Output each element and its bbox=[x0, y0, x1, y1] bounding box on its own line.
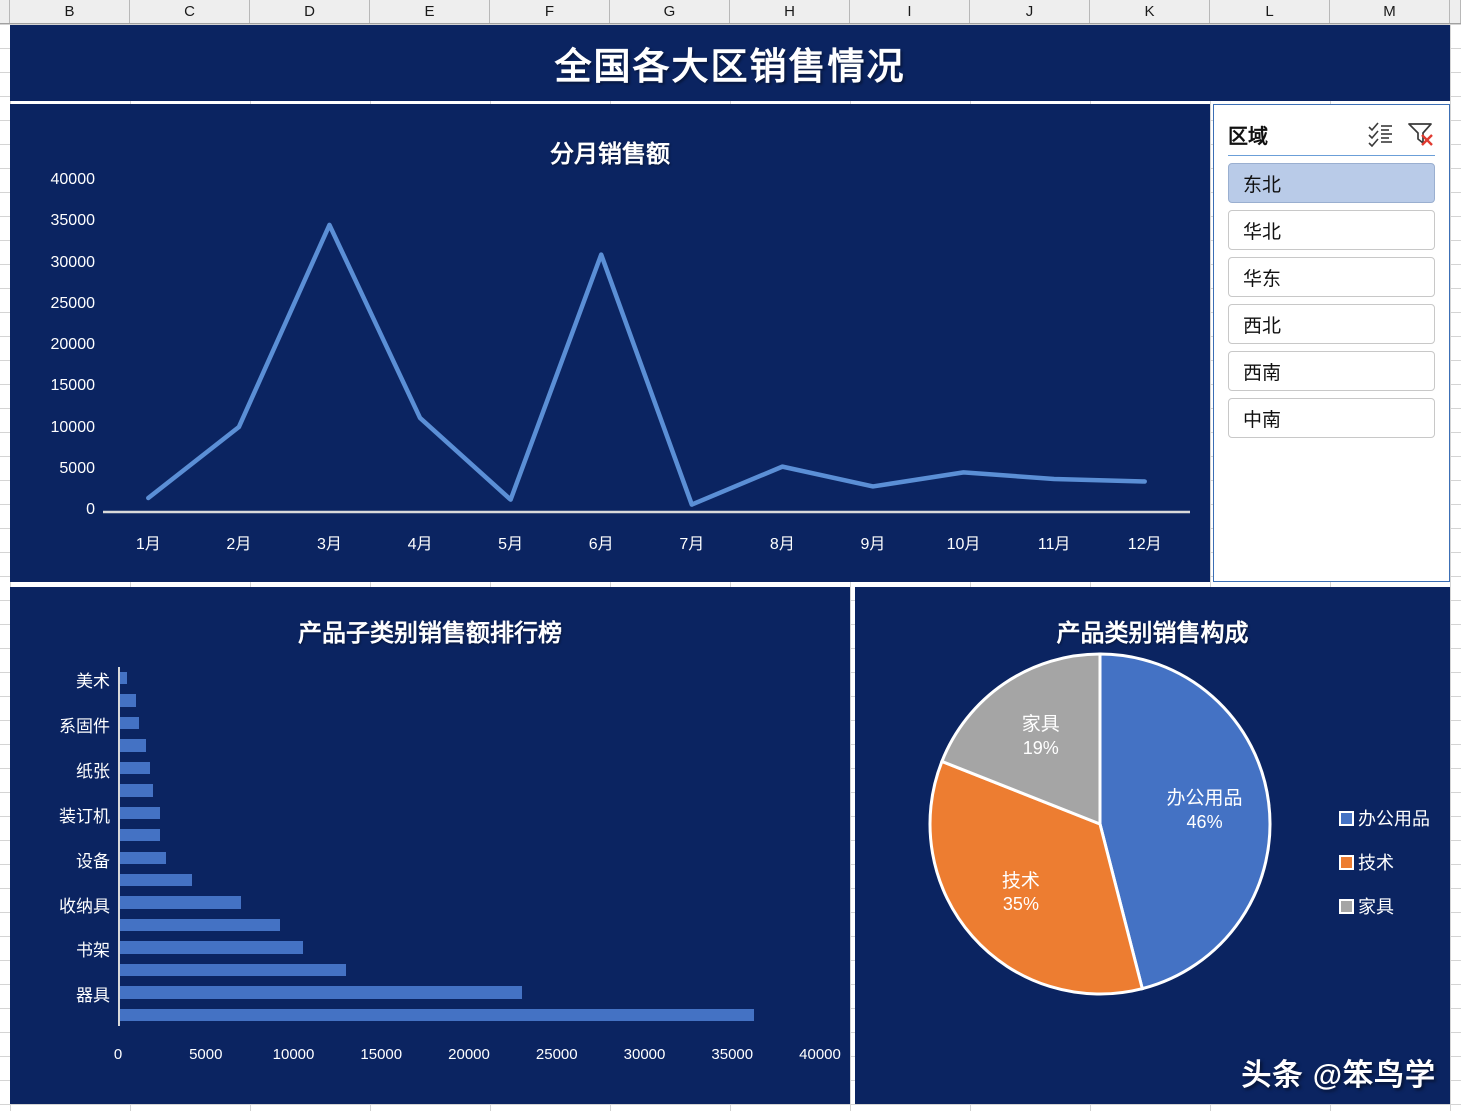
bar-chart-category-label: 系固件 bbox=[14, 712, 110, 737]
subcategory-ranking-bar-chart-panel[interactable]: 产品子类别销售额排行榜 美术系固件纸张装订机设备收纳具书架器具050001000… bbox=[10, 587, 850, 1104]
pie-legend-item[interactable]: 办公用品 bbox=[1339, 805, 1430, 831]
column-header-I[interactable]: I bbox=[850, 0, 970, 23]
pie-legend-label: 家具 bbox=[1358, 893, 1394, 919]
bar-chart-x-tick: 20000 bbox=[434, 1046, 504, 1063]
watermark: 头条 @笨鸟学 bbox=[1241, 1050, 1436, 1094]
pie-legend-swatch bbox=[1339, 855, 1354, 870]
line-chart-x-tick: 4月 bbox=[385, 530, 455, 554]
clear-filter-icon[interactable] bbox=[1405, 121, 1435, 147]
pie-slice-label: 办公用品46% bbox=[1145, 787, 1265, 833]
bar-rect bbox=[120, 672, 127, 684]
bar-chart-category-label: 书架 bbox=[14, 936, 110, 961]
line-chart-y-tick: 5000 bbox=[15, 460, 95, 478]
column-header-E[interactable]: E bbox=[370, 0, 490, 23]
column-header-J[interactable]: J bbox=[970, 0, 1090, 23]
line-chart-x-tick: 7月 bbox=[657, 530, 727, 554]
bar-rect bbox=[120, 829, 160, 841]
page-title: 全国各大区销售情况 bbox=[555, 36, 906, 90]
line-chart-x-tick: 8月 bbox=[747, 530, 817, 554]
line-chart-y-tick: 15000 bbox=[15, 377, 95, 395]
line-chart-x-tick: 2月 bbox=[204, 530, 274, 554]
bar-chart-x-tick: 0 bbox=[83, 1046, 153, 1063]
column-header-H[interactable]: H bbox=[730, 0, 850, 23]
dashboard-title-banner: 全国各大区销售情况 bbox=[10, 25, 1450, 101]
dashboard-root: BCDEFGHIJKLM 全国各大区销售情况 分月销售额 05000100001… bbox=[0, 0, 1461, 1111]
bar-chart-x-tick: 5000 bbox=[171, 1046, 241, 1063]
column-header-D[interactable]: D bbox=[250, 0, 370, 23]
line-chart-y-tick: 40000 bbox=[15, 171, 95, 189]
bar-rect bbox=[120, 694, 136, 706]
region-slicer[interactable]: 区域 东北华北华东西北西南中南 bbox=[1213, 104, 1450, 582]
bar-chart-category-label: 收纳具 bbox=[14, 892, 110, 917]
column-header-G[interactable]: G bbox=[610, 0, 730, 23]
bar-chart-x-tick: 40000 bbox=[785, 1046, 855, 1063]
line-chart-x-tick: 3月 bbox=[294, 530, 364, 554]
line-chart-plot: 0500010000150002000025000300003500040000… bbox=[10, 104, 1210, 582]
line-chart-y-tick: 20000 bbox=[15, 336, 95, 354]
bar-rect bbox=[120, 807, 160, 819]
slicer-item-list: 东北华北华东西北西南中南 bbox=[1228, 163, 1435, 445]
bar-chart-category-label: 设备 bbox=[14, 847, 110, 872]
bar-rect bbox=[120, 762, 150, 774]
pie-chart-plot: 办公用品46%技术35%家具19% bbox=[925, 649, 1275, 999]
column-header-B[interactable]: B bbox=[10, 0, 130, 23]
pie-legend-swatch bbox=[1339, 811, 1354, 826]
bar-chart-category-label: 器具 bbox=[14, 981, 110, 1006]
column-header-C[interactable]: C bbox=[130, 0, 250, 23]
bar-chart-plot: 美术系固件纸张装订机设备收纳具书架器具050001000015000200002… bbox=[10, 587, 850, 1104]
pie-legend-item[interactable]: 家具 bbox=[1339, 893, 1430, 919]
slicer-item-华北[interactable]: 华北 bbox=[1228, 210, 1435, 250]
pie-legend: 办公用品技术家具 bbox=[1339, 805, 1430, 919]
column-header-a-partial[interactable] bbox=[0, 0, 10, 23]
bar-chart-x-tick: 30000 bbox=[610, 1046, 680, 1063]
bar-rect bbox=[120, 896, 241, 908]
slicer-item-中南[interactable]: 中南 bbox=[1228, 398, 1435, 438]
column-header-M[interactable]: M bbox=[1330, 0, 1450, 23]
bar-chart-category-label: 装订机 bbox=[14, 802, 110, 827]
line-chart-y-tick: 35000 bbox=[15, 212, 95, 230]
line-chart-x-tick: 10月 bbox=[929, 530, 999, 554]
bar-chart-x-tick: 35000 bbox=[697, 1046, 767, 1063]
pie-slice-label: 家具19% bbox=[981, 713, 1101, 759]
line-chart-y-tick: 0 bbox=[15, 501, 95, 519]
line-chart-x-tick: 6月 bbox=[566, 530, 636, 554]
bar-rect bbox=[120, 717, 139, 729]
column-header-L[interactable]: L bbox=[1210, 0, 1330, 23]
multi-select-icon[interactable] bbox=[1367, 121, 1397, 147]
line-chart-svg bbox=[10, 104, 1210, 582]
pie-legend-label: 办公用品 bbox=[1358, 805, 1430, 831]
column-header-row[interactable]: BCDEFGHIJKLM bbox=[0, 0, 1461, 24]
bar-rect bbox=[120, 874, 192, 886]
column-header-F[interactable]: F bbox=[490, 0, 610, 23]
bar-rect bbox=[120, 941, 303, 953]
bar-rect bbox=[120, 739, 146, 751]
monthly-sales-line-chart-panel[interactable]: 分月销售额 0500010000150002000025000300003500… bbox=[10, 104, 1210, 582]
slicer-item-西北[interactable]: 西北 bbox=[1228, 304, 1435, 344]
category-composition-pie-chart-panel[interactable]: 产品类别销售构成 办公用品46%技术35%家具19% 办公用品技术家具 头条 @… bbox=[855, 587, 1450, 1104]
pie-legend-label: 技术 bbox=[1358, 849, 1394, 875]
bar-rect bbox=[120, 919, 280, 931]
bar-chart-category-label: 纸张 bbox=[14, 757, 110, 782]
bar-chart-category-label: 美术 bbox=[14, 667, 110, 692]
slicer-item-西南[interactable]: 西南 bbox=[1228, 351, 1435, 391]
line-chart-y-tick: 30000 bbox=[15, 254, 95, 272]
bar-rect bbox=[120, 986, 522, 998]
bar-rect bbox=[120, 784, 153, 796]
bar-rect bbox=[120, 852, 166, 864]
pie-legend-item[interactable]: 技术 bbox=[1339, 849, 1430, 875]
slicer-item-东北[interactable]: 东北 bbox=[1228, 163, 1435, 203]
slicer-header: 区域 bbox=[1228, 117, 1435, 151]
grid-col-line bbox=[1450, 24, 1451, 1111]
bar-rect bbox=[120, 964, 346, 976]
slicer-title: 区域 bbox=[1228, 120, 1359, 149]
column-header-K[interactable]: K bbox=[1090, 0, 1210, 23]
pie-legend-swatch bbox=[1339, 899, 1354, 914]
line-chart-x-tick: 12月 bbox=[1110, 530, 1180, 554]
pie-chart-title: 产品类别销售构成 bbox=[855, 613, 1450, 648]
slicer-divider bbox=[1228, 155, 1435, 156]
column-header-n-partial[interactable] bbox=[1450, 0, 1461, 23]
bar-chart-x-tick: 10000 bbox=[259, 1046, 329, 1063]
line-chart-x-tick: 5月 bbox=[476, 530, 546, 554]
line-chart-y-tick: 10000 bbox=[15, 419, 95, 437]
bar-rect bbox=[120, 1009, 754, 1021]
slicer-item-华东[interactable]: 华东 bbox=[1228, 257, 1435, 297]
line-chart-x-tick: 1月 bbox=[113, 530, 183, 554]
bar-chart-x-tick: 25000 bbox=[522, 1046, 592, 1063]
line-chart-x-tick: 11月 bbox=[1019, 530, 1089, 554]
line-chart-y-tick: 25000 bbox=[15, 295, 95, 313]
line-series-sales bbox=[148, 225, 1144, 505]
pie-slice-label: 技术35% bbox=[961, 870, 1081, 916]
bar-chart-x-tick: 15000 bbox=[346, 1046, 416, 1063]
line-chart-x-tick: 9月 bbox=[838, 530, 908, 554]
